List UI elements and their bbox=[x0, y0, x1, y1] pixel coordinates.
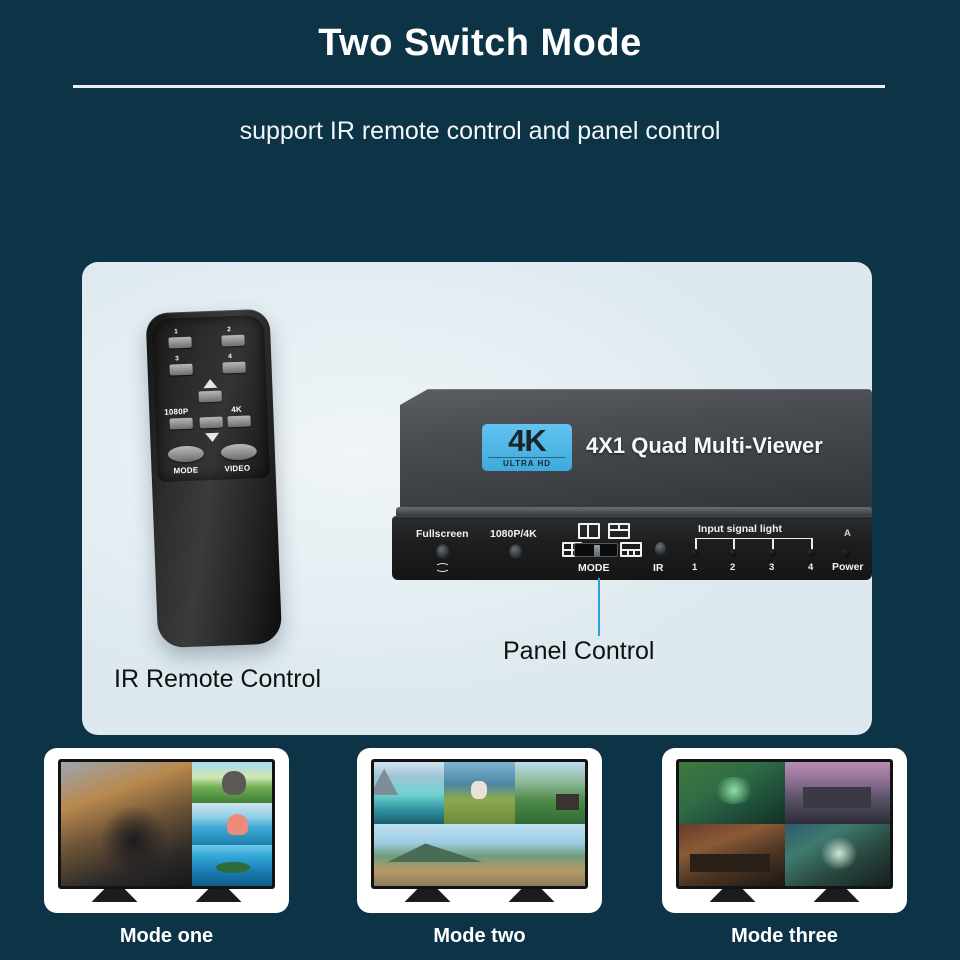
pane-shooter-game bbox=[785, 762, 891, 824]
layout-bottom-split-icon[interactable] bbox=[620, 542, 642, 557]
pane-anime-totoro bbox=[192, 762, 272, 803]
pane-dog-on-bench bbox=[444, 762, 514, 824]
remote-button-label-4: 4 bbox=[228, 353, 232, 360]
pane-rpg-game bbox=[679, 824, 785, 886]
tv-bezel bbox=[58, 759, 275, 889]
remote-button-mode[interactable] bbox=[168, 445, 205, 462]
remote-button-label-3: 3 bbox=[175, 355, 179, 362]
page-subtitle: support IR remote control and panel cont… bbox=[0, 117, 960, 146]
pane-countryside-barn bbox=[515, 762, 585, 824]
tv-bezel bbox=[676, 759, 893, 889]
tv-mode-three bbox=[676, 759, 893, 889]
remote-button-label-1: 1 bbox=[174, 328, 178, 335]
ir-remote-callout: IR Remote Control bbox=[114, 665, 321, 694]
power-led bbox=[842, 549, 850, 557]
input-led-2 bbox=[729, 549, 737, 557]
pane-wide-lake-valley bbox=[374, 824, 585, 886]
remote-button-label-4k: 4K bbox=[231, 405, 242, 414]
mode-three-card bbox=[662, 748, 907, 913]
input-led-label-3: 3 bbox=[769, 562, 774, 573]
mode-one-label: Mode one bbox=[44, 925, 289, 948]
remote-button-label-video: VIDEO bbox=[224, 464, 250, 474]
power-label: Power bbox=[832, 561, 864, 573]
mode-label: MODE bbox=[578, 562, 610, 574]
pane-motorcycle-game bbox=[61, 762, 192, 886]
remote-button-label-mode: MODE bbox=[173, 466, 198, 476]
tv-stand bbox=[710, 888, 860, 902]
fullscreen-icon bbox=[435, 563, 450, 572]
remote-button-label-1080p: 1080P bbox=[164, 407, 188, 417]
product-feature-image: Two Switch Mode support IR remote contro… bbox=[0, 0, 960, 960]
input-led-label-1: 1 bbox=[692, 562, 697, 573]
resolution-label: 1080P/4K bbox=[490, 528, 537, 540]
remote-keypad-face: 1 2 3 4 1080P 4K MODE VIDEO bbox=[152, 315, 270, 482]
remote-button-label-2: 2 bbox=[227, 326, 231, 333]
tv-mode-one bbox=[58, 759, 275, 889]
input-signal-bracket bbox=[695, 538, 813, 539]
remote-button-4[interactable] bbox=[222, 362, 245, 374]
fullscreen-button[interactable] bbox=[436, 544, 450, 560]
mode-one-card bbox=[44, 748, 289, 913]
pane-action-game bbox=[785, 824, 891, 886]
pane-moba-game bbox=[679, 762, 785, 824]
input-led-label-2: 2 bbox=[730, 562, 735, 573]
header-divider bbox=[73, 85, 885, 88]
panel-control-callout: Panel Control bbox=[503, 637, 654, 666]
ir-receiver-icon bbox=[655, 542, 666, 557]
input-led-1 bbox=[691, 549, 699, 557]
remote-button-4k[interactable] bbox=[227, 415, 250, 427]
panel-control-callout-line bbox=[598, 578, 600, 636]
device-top-surface: 4K ULTRA HD 4X1 Quad Multi-Viewer bbox=[400, 389, 872, 514]
remote-button-video[interactable] bbox=[221, 443, 258, 460]
remote-button-1[interactable] bbox=[168, 337, 191, 349]
device-model-name: 4X1 Quad Multi-Viewer bbox=[586, 433, 823, 459]
ir-label: IR bbox=[653, 562, 664, 574]
pane-flamingos-beach bbox=[192, 803, 272, 844]
page-title: Two Switch Mode bbox=[0, 22, 960, 65]
input-led-4 bbox=[807, 549, 815, 557]
ir-remote-control: 1 2 3 4 1080P 4K MODE VIDEO bbox=[145, 309, 282, 649]
pane-mountain-lake bbox=[374, 762, 444, 824]
mode-two-label: Mode two bbox=[357, 925, 602, 948]
up-arrow-icon bbox=[203, 379, 217, 389]
4k-badge-resolution: 4K bbox=[508, 427, 546, 456]
fullscreen-label: Fullscreen bbox=[416, 528, 469, 540]
tv-mode-two bbox=[371, 759, 588, 889]
tv-bezel bbox=[371, 759, 588, 889]
remote-button-down[interactable] bbox=[200, 417, 223, 429]
mode-two-card bbox=[357, 748, 602, 913]
input-led-label-4: 4 bbox=[808, 562, 813, 573]
layout-left-big-icon[interactable] bbox=[578, 523, 600, 539]
remote-button-3[interactable] bbox=[169, 364, 192, 376]
multiviewer-device: 4K ULTRA HD 4X1 Quad Multi-Viewer Fullsc… bbox=[392, 389, 872, 580]
mode-slider[interactable] bbox=[574, 543, 618, 557]
tv-screen bbox=[679, 762, 890, 886]
tv-stand bbox=[92, 888, 242, 902]
remote-button-up[interactable] bbox=[199, 391, 222, 403]
mode-three-label: Mode three bbox=[662, 925, 907, 948]
input-signal-light-label: Input signal light bbox=[698, 523, 782, 535]
remote-button-2[interactable] bbox=[221, 335, 244, 347]
tv-stand bbox=[405, 888, 555, 902]
down-arrow-icon bbox=[205, 433, 219, 443]
tv-screen bbox=[374, 762, 585, 886]
pane-tropical-island bbox=[192, 845, 272, 886]
auto-label: A bbox=[844, 528, 851, 539]
tv-screen bbox=[61, 762, 272, 886]
device-front-panel: Fullscreen 1080P/4K MODE IR Input signal… bbox=[392, 516, 872, 580]
input-led-3 bbox=[768, 549, 776, 557]
remote-button-1080p[interactable] bbox=[170, 418, 193, 430]
layout-top-split-icon[interactable] bbox=[608, 523, 630, 539]
4k-badge-standard: ULTRA HD bbox=[488, 457, 566, 468]
resolution-button[interactable] bbox=[509, 544, 523, 560]
4k-ultra-hd-badge: 4K ULTRA HD bbox=[482, 424, 572, 471]
